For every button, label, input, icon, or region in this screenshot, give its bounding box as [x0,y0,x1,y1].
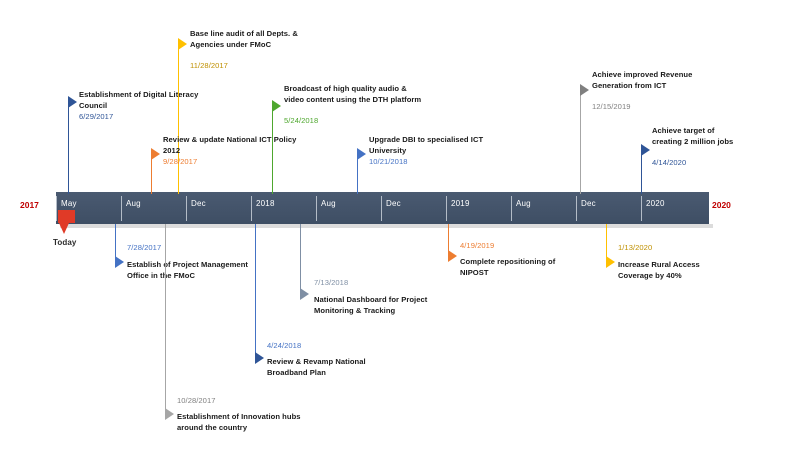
milestone-label-broadband-plan: Review & Revamp National Broadband Plan [267,357,442,378]
axis-tick-label-6: 2019 [451,199,470,209]
axis-tick-label-5: Dec [386,199,401,209]
milestone-date-broadband-plan: 4/24/2018 [267,341,301,351]
axis-tick-label-7: Aug [516,199,531,209]
milestone-flag-improved-revenue-generation[interactable] [580,84,589,96]
axis-tick-label-4: Aug [321,199,336,209]
milestone-flag-base-line-audit[interactable] [178,38,187,50]
milestone-flag-review-national-ict-policy[interactable] [151,148,160,160]
milestone-label-rural-access-coverage: Increase Rural Access Coverage by 40% [618,260,787,281]
milestone-label-upgrade-dbi-university: Upgrade DBI to specialised ICT Universit… [369,135,544,156]
milestone-stem-rural-access-coverage [606,224,607,260]
milestone-stem-digital-literacy-council [68,100,69,194]
milestone-flag-two-million-jobs[interactable] [641,144,650,156]
axis-tick-separator [251,196,252,221]
milestone-date-innovation-hubs: 10/28/2017 [177,396,216,406]
axis-tick-separator [511,196,512,221]
axis-tick-label-9: 2020 [646,199,665,209]
milestone-label-review-national-ict-policy: Review & update National ICT Policy 2012 [163,135,348,156]
milestone-flag-broadband-plan[interactable] [255,352,264,364]
milestone-label-national-dashboard: National Dashboard for Project Monitorin… [314,295,494,316]
milestone-flag-upgrade-dbi-university[interactable] [357,148,366,160]
axis-tick-label-3: 2018 [256,199,275,209]
today-marker-block [58,210,75,223]
axis-start-year-label: 2017 [20,200,39,210]
axis-tick-label-2: Dec [191,199,206,209]
milestone-date-national-dashboard: 7/13/2018 [314,278,348,288]
axis-tick-label-0: May [61,199,77,209]
axis-tick-label-1: Aug [126,199,141,209]
milestone-flag-dth-broadcast[interactable] [272,100,281,112]
axis-tick-separator [186,196,187,221]
milestone-date-rural-access-coverage: 1/13/2020 [618,243,652,253]
milestone-label-dth-broadcast: Broadcast of high quality audio & video … [284,84,479,105]
axis-tick-separator [121,196,122,221]
milestone-date-digital-literacy-council: 6/29/2017 [79,112,113,122]
timeline-chart: May Aug Dec 2018 Aug Dec 2019 Aug Dec 20… [0,0,787,458]
milestone-label-project-management-office: Establish of Project Management Office i… [127,260,302,281]
milestone-label-improved-revenue-generation: Achieve improved Revenue Generation from… [592,70,772,91]
axis-tick-separator [56,196,57,221]
axis-tick-label-8: Dec [581,199,596,209]
milestone-date-two-million-jobs: 4/14/2020 [652,158,686,168]
milestone-stem-base-line-audit [178,42,179,194]
milestone-date-upgrade-dbi-university: 10/21/2018 [369,157,408,167]
milestone-flag-national-dashboard[interactable] [300,288,309,300]
axis-end-year-label: 2020 [712,200,731,210]
milestone-flag-project-management-office[interactable] [115,256,124,268]
milestone-date-base-line-audit: 11/28/2017 [190,61,228,71]
milestone-label-two-million-jobs: Achieve target of creating 2 million job… [652,126,782,147]
milestone-date-improved-revenue-generation: 12/15/2019 [592,102,631,112]
milestone-date-project-management-office: 7/28/2017 [127,243,161,253]
axis-tick-separator [446,196,447,221]
milestone-stem-dth-broadcast [272,104,273,194]
axis-tick-separator [576,196,577,221]
axis-tick-separator [381,196,382,221]
milestone-stem-national-dashboard [300,224,301,294]
milestone-label-innovation-hubs: Establishment of Innovation hubs around … [177,412,357,433]
milestone-date-review-national-ict-policy: 9/28/2017 [163,157,197,167]
milestone-flag-innovation-hubs[interactable] [165,408,174,420]
milestone-date-nipost-repositioning: 4/19/2019 [460,241,494,251]
milestone-label-digital-literacy-council: Establishment of Digital Literacy Counci… [79,90,239,111]
axis-tick-separator [316,196,317,221]
milestone-date-dth-broadcast: 5/24/2018 [284,116,318,126]
axis-bar-shadow [60,224,713,228]
milestone-stem-innovation-hubs [165,224,166,414]
milestone-stem-improved-revenue-generation [580,88,581,194]
milestone-label-base-line-audit: Base line audit of all Depts. & Agencies… [190,29,370,50]
timeline-axis-bar [56,192,709,224]
axis-tick-separator [641,196,642,221]
milestone-flag-digital-literacy-council[interactable] [68,96,77,108]
milestone-flag-rural-access-coverage[interactable] [606,256,615,268]
today-marker-arrow-icon [59,223,69,234]
today-marker-label: Today [53,238,76,247]
milestone-stem-broadband-plan [255,224,256,358]
milestone-flag-nipost-repositioning[interactable] [448,250,457,262]
